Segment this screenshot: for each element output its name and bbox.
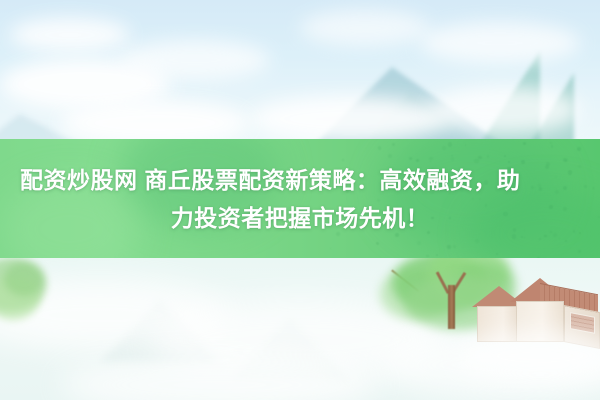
cloud-icon: [250, 96, 450, 142]
headline-overlay: 配资炒股网 商丘股票配资新策略：高效融资，助 力投资者把握市场先机！: [0, 139, 600, 258]
left-foliage-icon: [4, 262, 44, 296]
cloud-icon: [10, 18, 130, 52]
banner-image: 配资炒股网 商丘股票配资新策略：高效融资，助 力投资者把握市场先机！: [0, 0, 600, 400]
tree-trunk-icon: [448, 285, 455, 329]
headline-line-2: 力投资者把握市场先机！: [171, 199, 430, 237]
cloud-icon: [120, 40, 270, 80]
cloud-icon: [420, 22, 580, 64]
headline-line-1: 配资炒股网 商丘股票配资新策略：高效融资，助: [12, 161, 520, 199]
cloud-icon: [300, 10, 430, 46]
cloud-icon: [430, 86, 580, 134]
